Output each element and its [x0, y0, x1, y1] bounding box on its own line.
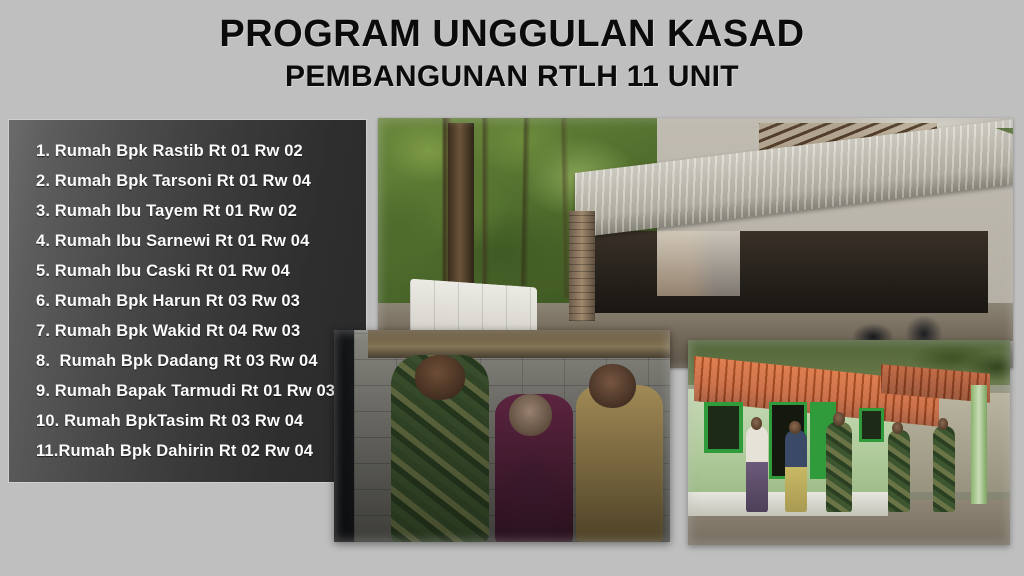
photo-person-resident-1 — [746, 426, 769, 512]
photo-person-soldier-3 — [933, 426, 956, 512]
photo-window-right — [859, 408, 885, 443]
list-item: 10. Rumah BpkTasim Rt 03 Rw 04 — [36, 406, 360, 436]
list-item: 3. Rumah Ibu Tayem Rt 01 Rw 02 — [36, 196, 360, 226]
list-item: 11.Rumah Bpk Dahirin Rt 02 Rw 04 — [36, 436, 360, 466]
photo-house-after — [688, 340, 1010, 545]
photo-hanging-laundry — [657, 231, 740, 296]
rtlh-list: 1. Rumah Bpk Rastib Rt 01 Rw 02 2. Rumah… — [36, 136, 360, 466]
list-item: 4. Rumah Ibu Sarnewi Rt 01 Rw 04 — [36, 226, 360, 256]
list-item: 5. Rumah Ibu Caski Rt 01 Rw 04 — [36, 256, 360, 286]
photo-tree-trunk — [448, 123, 474, 298]
list-item: 7. Rumah Bpk Wakid Rt 04 Rw 03 — [36, 316, 360, 346]
photo-green-pillar — [971, 385, 987, 504]
page-title: PROGRAM UNGGULAN KASAD — [0, 12, 1024, 56]
title-block: PROGRAM UNGGULAN KASAD PEMBANGUNAN RTLH … — [0, 12, 1024, 95]
photo-person-soldier-1 — [826, 422, 852, 512]
list-item: 1. Rumah Bpk Rastib Rt 01 Rw 02 — [36, 136, 360, 166]
photo-greeting — [334, 330, 670, 542]
list-item: 6. Rumah Bpk Harun Rt 03 Rw 03 — [36, 286, 360, 316]
photo-palm-frond — [937, 128, 1013, 283]
slide-canvas: PROGRAM UNGGULAN KASAD PEMBANGUNAN RTLH … — [0, 0, 1024, 576]
photo-person-soldier-2 — [888, 430, 911, 512]
page-subtitle: PEMBANGUNAN RTLH 11 UNIT — [0, 59, 1024, 95]
list-item: 9. Rumah Bapak Tarmudi Rt 01 Rw 03 — [36, 376, 360, 406]
photo-shading-overlay — [334, 330, 670, 542]
photo-window-left — [704, 402, 743, 453]
photo-person-resident-2 — [785, 430, 808, 512]
list-item: 2. Rumah Bpk Tarsoni Rt 01 Rw 04 — [36, 166, 360, 196]
photo-brick-pillar — [569, 211, 595, 321]
rtlh-list-panel: 1. Rumah Bpk Rastib Rt 01 Rw 02 2. Rumah… — [9, 120, 366, 482]
list-item: 8. Rumah Bpk Dadang Rt 03 Rw 04 — [36, 346, 360, 376]
